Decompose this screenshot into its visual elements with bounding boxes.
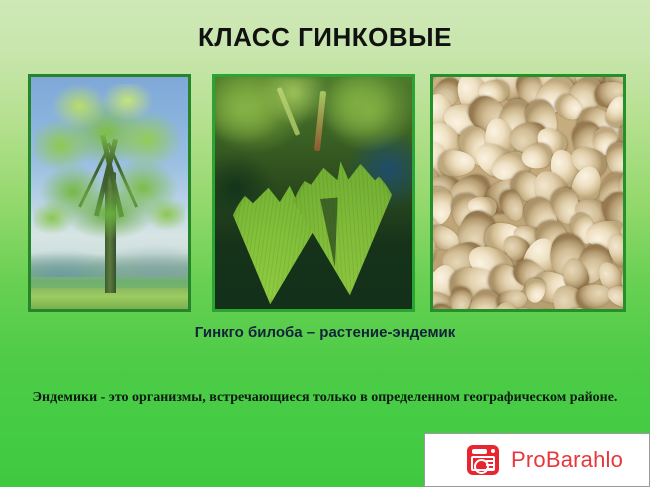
camera-flash-dot [491,449,495,453]
presentation-slide: КЛАСС ГИНКОВЫЕ [0,0,650,487]
watermark-label: ProBarahlo [511,447,623,473]
ginkgo-leaf-photo [215,77,412,309]
ginkgo-tree-illustration [31,77,188,309]
camera-top-shape [472,449,487,454]
ginkgo-seeds-photo [433,77,623,309]
seed-shape [625,92,626,138]
image-caption: Гинкго билоба – растение-эндемик [0,324,650,341]
seed-shape [624,145,626,184]
watermark-box: ProBarahlo [424,433,650,487]
seed-shape [430,80,431,112]
image-ginkgo-leaves [212,74,415,312]
camera-icon [467,445,499,475]
image-ginkgo-tree [28,74,191,312]
camera-grill-shape [486,460,493,469]
image-ginkgo-seeds [430,74,626,312]
tree-foliage-shape [34,84,185,270]
page-title: КЛАСС ГИНКОВЫЕ [0,22,650,53]
image-gallery [0,74,650,312]
definition-text: Эндемики - это организмы, встречающиеся … [0,390,650,406]
